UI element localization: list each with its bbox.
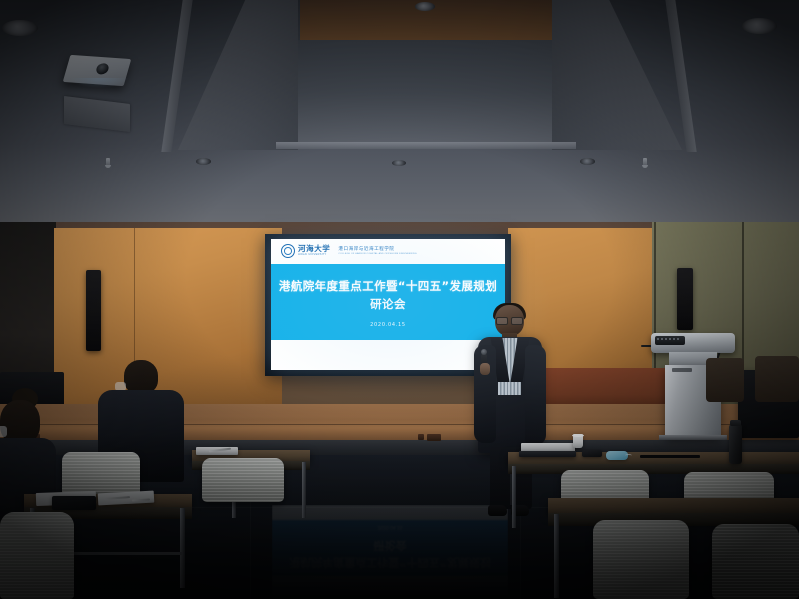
department-name-en: COLLEGE OF HARBOR COASTAL AND OFFSHORE E… — [338, 253, 416, 255]
ceiling-downlight-icon — [580, 158, 595, 165]
ceiling-downlight-icon — [2, 20, 38, 36]
sprinkler-icon — [106, 158, 110, 167]
presenter — [474, 305, 548, 517]
podium-label — [672, 368, 692, 372]
reflection-title-line2: 研论会 — [374, 538, 407, 555]
reflection-header — [272, 576, 508, 595]
ceiling-recess-inner — [276, 40, 576, 145]
university-name-en: HOHAI UNIVERSITY — [298, 253, 330, 257]
ceiling-recess-right — [552, 0, 682, 150]
slide-footer — [271, 340, 505, 370]
university-seal-icon — [281, 244, 295, 258]
paper-cup — [573, 434, 583, 448]
desk-leg — [512, 466, 516, 528]
presenter-hand — [480, 363, 490, 375]
folder-on-desk — [519, 451, 576, 457]
podium-control-panel[interactable] — [655, 336, 685, 345]
wooden-chair-right — [755, 356, 799, 402]
glasses-icon — [496, 317, 523, 323]
reflection-band: 港航院年度重点工作暨“十四五”发展规划 研论会 2020.04.15 — [272, 520, 508, 576]
projector-glow — [70, 78, 128, 88]
ceiling-downlight-icon — [196, 158, 211, 165]
reflection-date: 2020.04.15 — [377, 525, 402, 531]
desk-leg — [554, 514, 559, 598]
face-mask-worn — [0, 426, 7, 437]
ceiling-vent — [64, 96, 130, 132]
ceiling-downlight-icon — [742, 18, 777, 34]
sprinkler-icon — [643, 158, 647, 167]
wall-speaker-left — [86, 270, 101, 351]
ceiling-recess-bottom-lip — [276, 142, 576, 149]
projector-lens-icon — [95, 63, 110, 75]
chair-foreground-left[interactable] — [0, 512, 74, 599]
ceiling-recess-left — [178, 0, 298, 150]
university-logo: 河海大学 HOHAI UNIVERSITY 港口海岸与近海工程学院 COLLEG… — [281, 244, 417, 258]
reflection-footer — [272, 505, 508, 520]
desk-leg — [180, 508, 185, 588]
cable — [640, 455, 700, 458]
presentation-slide: 河海大学 HOHAI UNIVERSITY 港口海岸与近海工程学院 COLLEG… — [271, 239, 505, 370]
thermos-bottle — [729, 424, 742, 464]
presenter-shoe-left — [488, 505, 507, 516]
desk-front-right — [548, 498, 799, 514]
slide-title-line1: 港航院年度重点工作暨“十四五”发展规划 — [279, 277, 497, 295]
chair-front-right[interactable] — [712, 524, 799, 599]
slide-title-line2: 研论会 — [370, 295, 406, 313]
ceiling-downlight-icon — [415, 2, 435, 11]
ceiling — [0, 0, 799, 232]
podium-base-foot — [659, 435, 727, 440]
slide-floor-reflection: 港航院年度重点工作暨“十四五”发展规划 研论会 2020.04.15 — [272, 505, 508, 595]
ceiling-downlight-icon — [392, 160, 406, 166]
chair[interactable] — [62, 452, 140, 496]
slide-date: 2020.04.15 — [370, 322, 406, 328]
presenter-arm-right — [525, 345, 546, 445]
chair-front[interactable] — [593, 520, 689, 599]
stage-object — [427, 434, 441, 441]
conference-room-photo: 河海大学 HOHAI UNIVERSITY 港口海岸与近海工程学院 COLLEG… — [0, 0, 799, 599]
reflection-title-line1: 港航院年度重点工作暨“十四五”发展规划 — [289, 555, 490, 572]
tablet-device — [52, 496, 96, 510]
slide-title-band: 港航院年度重点工作暨“十四五”发展规划 研论会 2020.04.15 — [271, 264, 505, 340]
slide-header: 河海大学 HOHAI UNIVERSITY 港口海岸与近海工程学院 COLLEG… — [271, 239, 505, 264]
attendee-head — [124, 360, 158, 394]
wall-speaker-right — [677, 268, 693, 330]
stage-object — [418, 434, 424, 440]
desk-leg — [302, 462, 306, 518]
mobile-phone — [582, 450, 602, 457]
chair[interactable] — [202, 458, 284, 502]
face-mask-on-desk — [606, 451, 628, 460]
wooden-chair-right-2 — [706, 358, 744, 402]
